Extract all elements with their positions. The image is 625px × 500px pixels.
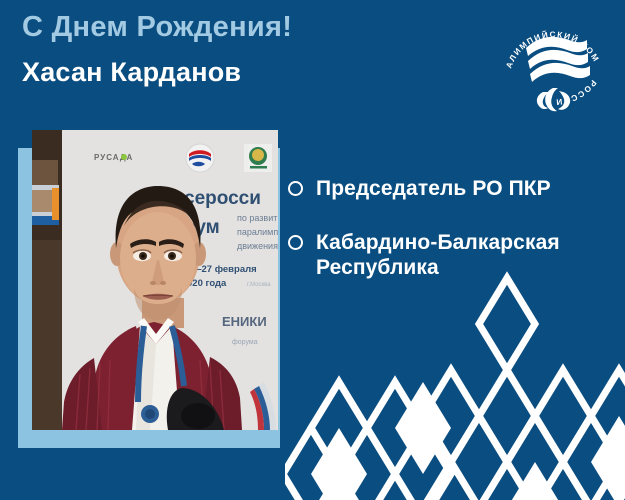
attributes-list: Председатель РО ПКР Кабардино-Балкарская…	[288, 176, 618, 309]
person-name: Хасан Карданов	[22, 58, 241, 86]
birthday-greeting-card: С Днем Рождения! Хасан Карданов ПАРАЛИМП…	[0, 0, 625, 500]
banner-subtitle-line1: по развити	[237, 213, 278, 223]
list-item: Кабардино-Балкарская Республика	[288, 230, 618, 281]
list-item-label: Председатель РО ПКР	[316, 176, 551, 202]
banner-sponsor-text: РУСАДА	[94, 153, 133, 162]
banner-section-label: ЕНИКИ	[222, 314, 267, 329]
greeting-title: С Днем Рождения!	[22, 12, 292, 42]
logo-graphic: ПАРАЛИМПИЙСКИЙ КОМИТЕТ РОССИИ	[495, 4, 613, 122]
bullet-circle-icon	[288, 181, 303, 196]
banner-dates: —27 февраля	[192, 264, 257, 275]
list-item-label: Кабардино-Балкарская Республика	[316, 230, 618, 281]
list-item: Председатель РО ПКР	[288, 176, 618, 202]
person-photo-graphic: РУСАДА серосси рум по развити паралимп д…	[32, 130, 278, 430]
paralympic-agitos-icon	[537, 88, 570, 111]
person-photo: РУСАДА серосси рум по развити паралимп д…	[32, 130, 278, 430]
banner-subtitle-line2: паралимп	[237, 227, 278, 237]
logo-wave-mark	[526, 37, 590, 82]
banner-title-line1: серосси	[184, 188, 261, 209]
paralympic-committee-logo: ПАРАЛИМПИЙСКИЙ КОМИТЕТ РОССИИ	[495, 4, 613, 122]
banner-subtitle-line3: движения	[237, 241, 278, 251]
banner-section-sub: форума	[232, 339, 258, 346]
bullet-circle-icon	[288, 235, 303, 250]
banner-venue: г.Москва	[247, 282, 271, 288]
